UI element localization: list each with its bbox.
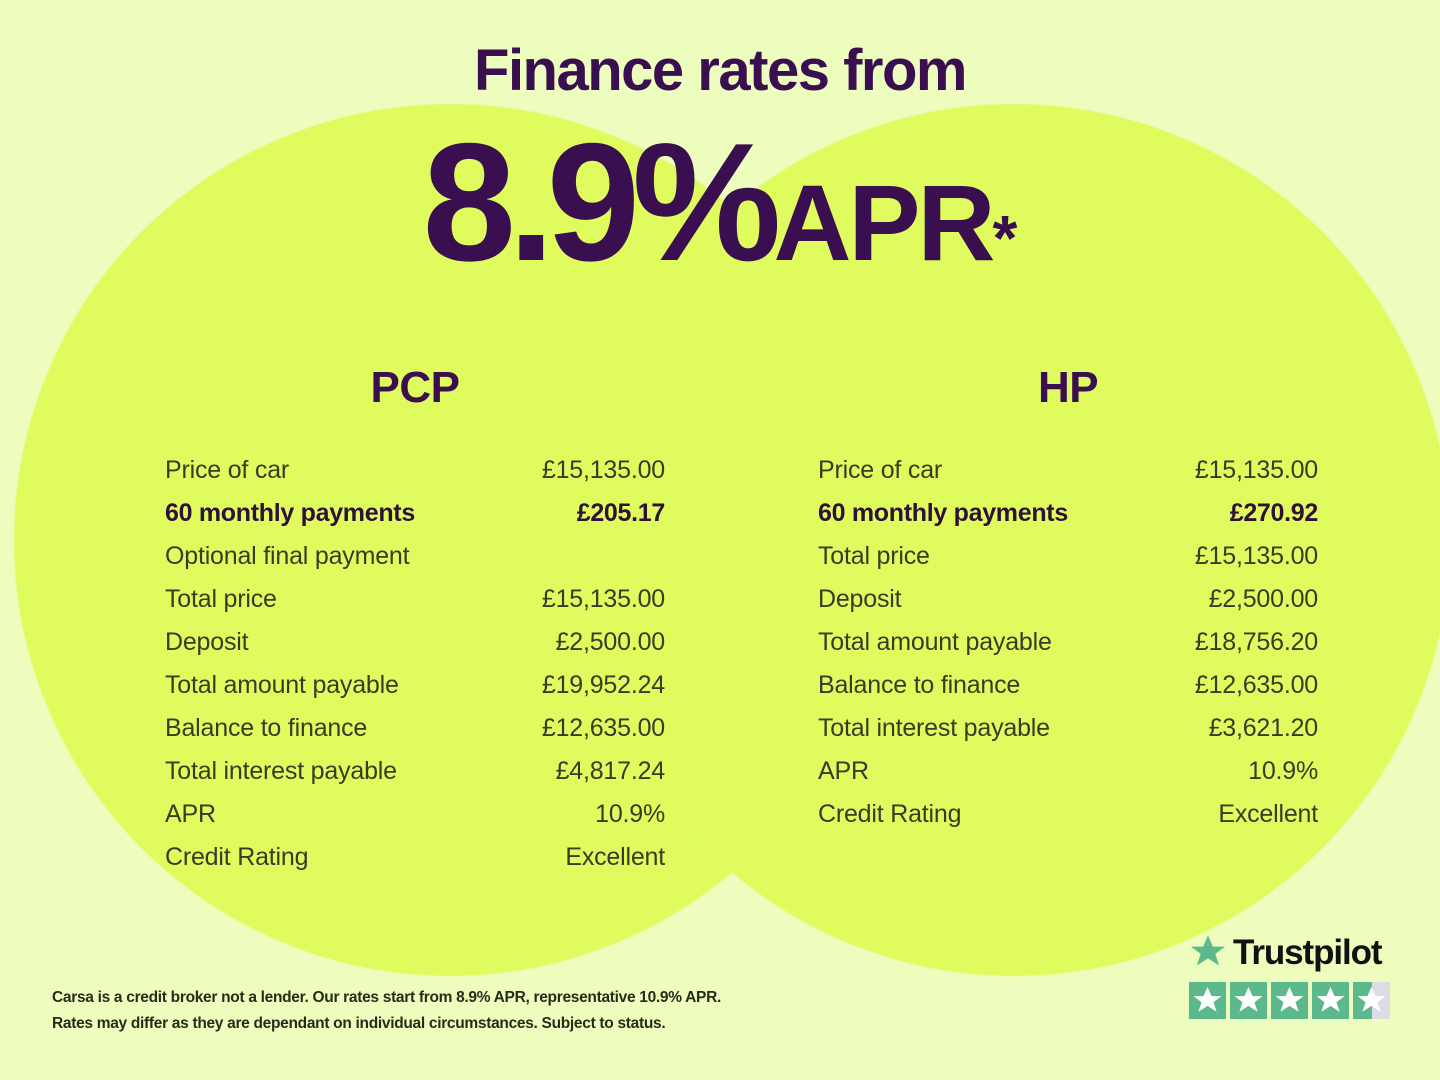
- trustpilot-star-icon: [1189, 933, 1227, 971]
- table-row: 60 monthly payments £270.92: [818, 499, 1318, 542]
- plan-card-hp: HP Price of car £15,135.00 60 monthly pa…: [818, 366, 1318, 843]
- hero-rate-unit: APR: [773, 162, 992, 283]
- row-label: Price of car: [818, 456, 942, 485]
- disclaimer-line-1: Carsa is a credit broker not a lender. O…: [52, 985, 812, 1011]
- row-label: Credit Rating: [818, 800, 961, 829]
- table-row: Optional final payment: [165, 542, 665, 585]
- hero-kicker: Finance rates from: [0, 42, 1440, 100]
- plan-title-hp: HP: [818, 366, 1318, 410]
- row-value: Excellent: [565, 843, 665, 872]
- hero-rate-asterisk: *: [993, 202, 1018, 274]
- row-label: Price of car: [165, 456, 289, 485]
- row-value: £15,135.00: [1195, 542, 1318, 571]
- row-label: Deposit: [818, 585, 901, 614]
- row-label: Total amount payable: [165, 671, 399, 700]
- plan-rows-pcp: Price of car £15,135.00 60 monthly payme…: [165, 456, 665, 886]
- plan-card-pcp: PCP Price of car £15,135.00 60 monthly p…: [165, 366, 665, 886]
- row-label: Total interest payable: [818, 714, 1050, 743]
- row-value: £18,756.20: [1195, 628, 1318, 657]
- rating-star-5-half: [1353, 982, 1390, 1019]
- trustpilot-badge[interactable]: Trustpilot: [1189, 930, 1394, 1019]
- row-value: £270.92: [1230, 499, 1318, 528]
- row-label: 60 monthly payments: [165, 499, 415, 528]
- row-value: £15,135.00: [542, 456, 665, 485]
- row-label: Balance to finance: [818, 671, 1020, 700]
- row-value: £4,817.24: [556, 757, 665, 786]
- table-row: Total price £15,135.00: [165, 585, 665, 628]
- row-value: £2,500.00: [1209, 585, 1318, 614]
- row-label: Deposit: [165, 628, 248, 657]
- trustpilot-wordmark: Trustpilot: [1189, 930, 1394, 974]
- rating-star-3: [1271, 982, 1308, 1019]
- row-value: £12,635.00: [1195, 671, 1318, 700]
- disclaimer-line-2: Rates may differ as they are dependant o…: [52, 1011, 812, 1037]
- row-label: Total price: [165, 585, 277, 614]
- row-value: £19,952.24: [542, 671, 665, 700]
- table-row: Deposit £2,500.00: [165, 628, 665, 671]
- row-value: £2,500.00: [556, 628, 665, 657]
- table-row: Deposit £2,500.00: [818, 585, 1318, 628]
- row-label: Credit Rating: [165, 843, 308, 872]
- row-label: 60 monthly payments: [818, 499, 1068, 528]
- row-value: 10.9%: [1248, 757, 1318, 786]
- row-label: Total interest payable: [165, 757, 397, 786]
- table-row: Balance to finance £12,635.00: [165, 714, 665, 757]
- table-row: APR 10.9%: [818, 757, 1318, 800]
- rating-star-1: [1189, 982, 1226, 1019]
- plan-rows-hp: Price of car £15,135.00 60 monthly payme…: [818, 456, 1318, 843]
- row-label: APR: [165, 800, 216, 829]
- row-value: £205.17: [577, 499, 665, 528]
- trustpilot-rating-stars: [1189, 982, 1394, 1019]
- table-row: Balance to finance £12,635.00: [818, 671, 1318, 714]
- table-row: Total price £15,135.00: [818, 542, 1318, 585]
- legal-disclaimer: Carsa is a credit broker not a lender. O…: [52, 985, 812, 1036]
- table-row: Credit Rating Excellent: [818, 800, 1318, 843]
- table-row: Total amount payable £19,952.24: [165, 671, 665, 714]
- table-row: Credit Rating Excellent: [165, 843, 665, 886]
- trustpilot-name: Trustpilot: [1233, 935, 1381, 970]
- row-label: Total amount payable: [818, 628, 1052, 657]
- row-value: £15,135.00: [542, 585, 665, 614]
- row-label: Optional final payment: [165, 542, 409, 571]
- row-label: Balance to finance: [165, 714, 367, 743]
- row-value: 10.9%: [595, 800, 665, 829]
- table-row: Total interest payable £4,817.24: [165, 757, 665, 800]
- row-label: Total price: [818, 542, 930, 571]
- hero-rate: 8.9%APR*: [0, 118, 1440, 286]
- table-row: Price of car £15,135.00: [818, 456, 1318, 499]
- table-row: Total amount payable £18,756.20: [818, 628, 1318, 671]
- table-row: 60 monthly payments £205.17: [165, 499, 665, 542]
- rating-star-4: [1312, 982, 1349, 1019]
- row-value: £3,621.20: [1209, 714, 1318, 743]
- table-row: Total interest payable £3,621.20: [818, 714, 1318, 757]
- row-value: £15,135.00: [1195, 456, 1318, 485]
- row-label: APR: [818, 757, 869, 786]
- rating-star-2: [1230, 982, 1267, 1019]
- plan-title-pcp: PCP: [165, 366, 665, 410]
- row-value: Excellent: [1218, 800, 1318, 829]
- table-row: Price of car £15,135.00: [165, 456, 665, 499]
- table-row: APR 10.9%: [165, 800, 665, 843]
- hero-rate-value: 8.9%: [423, 108, 774, 296]
- row-value: £12,635.00: [542, 714, 665, 743]
